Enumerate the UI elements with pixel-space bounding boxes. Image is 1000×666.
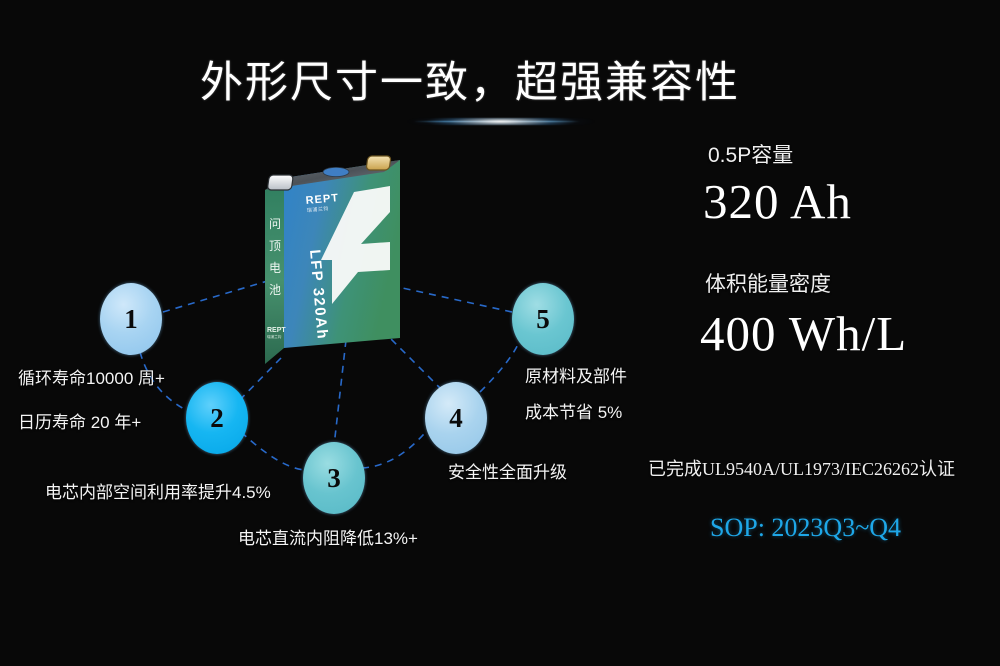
energy-density-label: 体积能量密度 xyxy=(705,268,831,298)
slide-canvas: 外形尺寸一致，超强兼容性 xyxy=(0,0,1000,666)
caption-material-line1: 原材料及部件 xyxy=(525,362,627,387)
battery-side-char-3: 电 xyxy=(269,261,281,275)
caption-material-line2: 成本节省 5% xyxy=(525,398,622,423)
battery-side-char-4: 池 xyxy=(269,283,281,297)
caption-cycle-life: 循环寿命10000 周+ xyxy=(18,364,165,389)
title-divider-glow xyxy=(398,118,596,125)
battery-side-brand-sub-text: 瑞浦兰钧 xyxy=(267,334,282,339)
battery-side-char-2: 顶 xyxy=(269,239,281,253)
connector-2-3 xyxy=(241,432,305,470)
battery-terminal-negative xyxy=(267,175,293,190)
battery-cell-illustration: REPT 瑞浦兰钧 LFP 320Ah 问 顶 电 池 REPT 瑞浦兰钧 xyxy=(248,142,428,382)
battery-terminal-positive xyxy=(366,156,391,170)
sop-text: SOP: 2023Q3~Q4 xyxy=(710,513,901,543)
battery-side-char-1: 问 xyxy=(269,217,281,231)
battery-vent xyxy=(323,167,349,176)
battery-side-brand-text: REPT xyxy=(267,327,286,334)
node-3[interactable]: 3 xyxy=(303,442,365,514)
node-2-label: 2 xyxy=(210,403,224,434)
node-1[interactable]: 1 xyxy=(100,283,162,355)
caption-dc-resistance: 电芯直流内阻降低13%+ xyxy=(238,524,418,549)
connector-4-5 xyxy=(480,340,520,392)
page-title: 外形尺寸一致，超强兼容性 xyxy=(0,48,940,110)
connector-3-4 xyxy=(362,428,429,468)
caption-safety: 安全性全面升级 xyxy=(448,458,567,483)
node-4-label: 4 xyxy=(449,403,463,434)
node-1-label: 1 xyxy=(124,304,138,335)
capacity-value: 320 Ah xyxy=(703,173,852,230)
caption-calendar-life: 日历寿命 20 年+ xyxy=(18,408,141,433)
node-5-label: 5 xyxy=(536,304,550,335)
energy-density-value: 400 Wh/L xyxy=(700,305,907,362)
caption-space-utilization: 电芯内部空间利用率提升4.5% xyxy=(45,478,271,503)
node-2[interactable]: 2 xyxy=(186,382,248,454)
certification-text: 已完成UL9540A/UL1973/IEC26262认证 xyxy=(648,455,955,481)
node-5[interactable]: 5 xyxy=(512,283,574,355)
node-4[interactable]: 4 xyxy=(425,382,487,454)
node-3-label: 3 xyxy=(327,463,341,494)
capacity-label: 0.5P容量 xyxy=(708,139,793,169)
